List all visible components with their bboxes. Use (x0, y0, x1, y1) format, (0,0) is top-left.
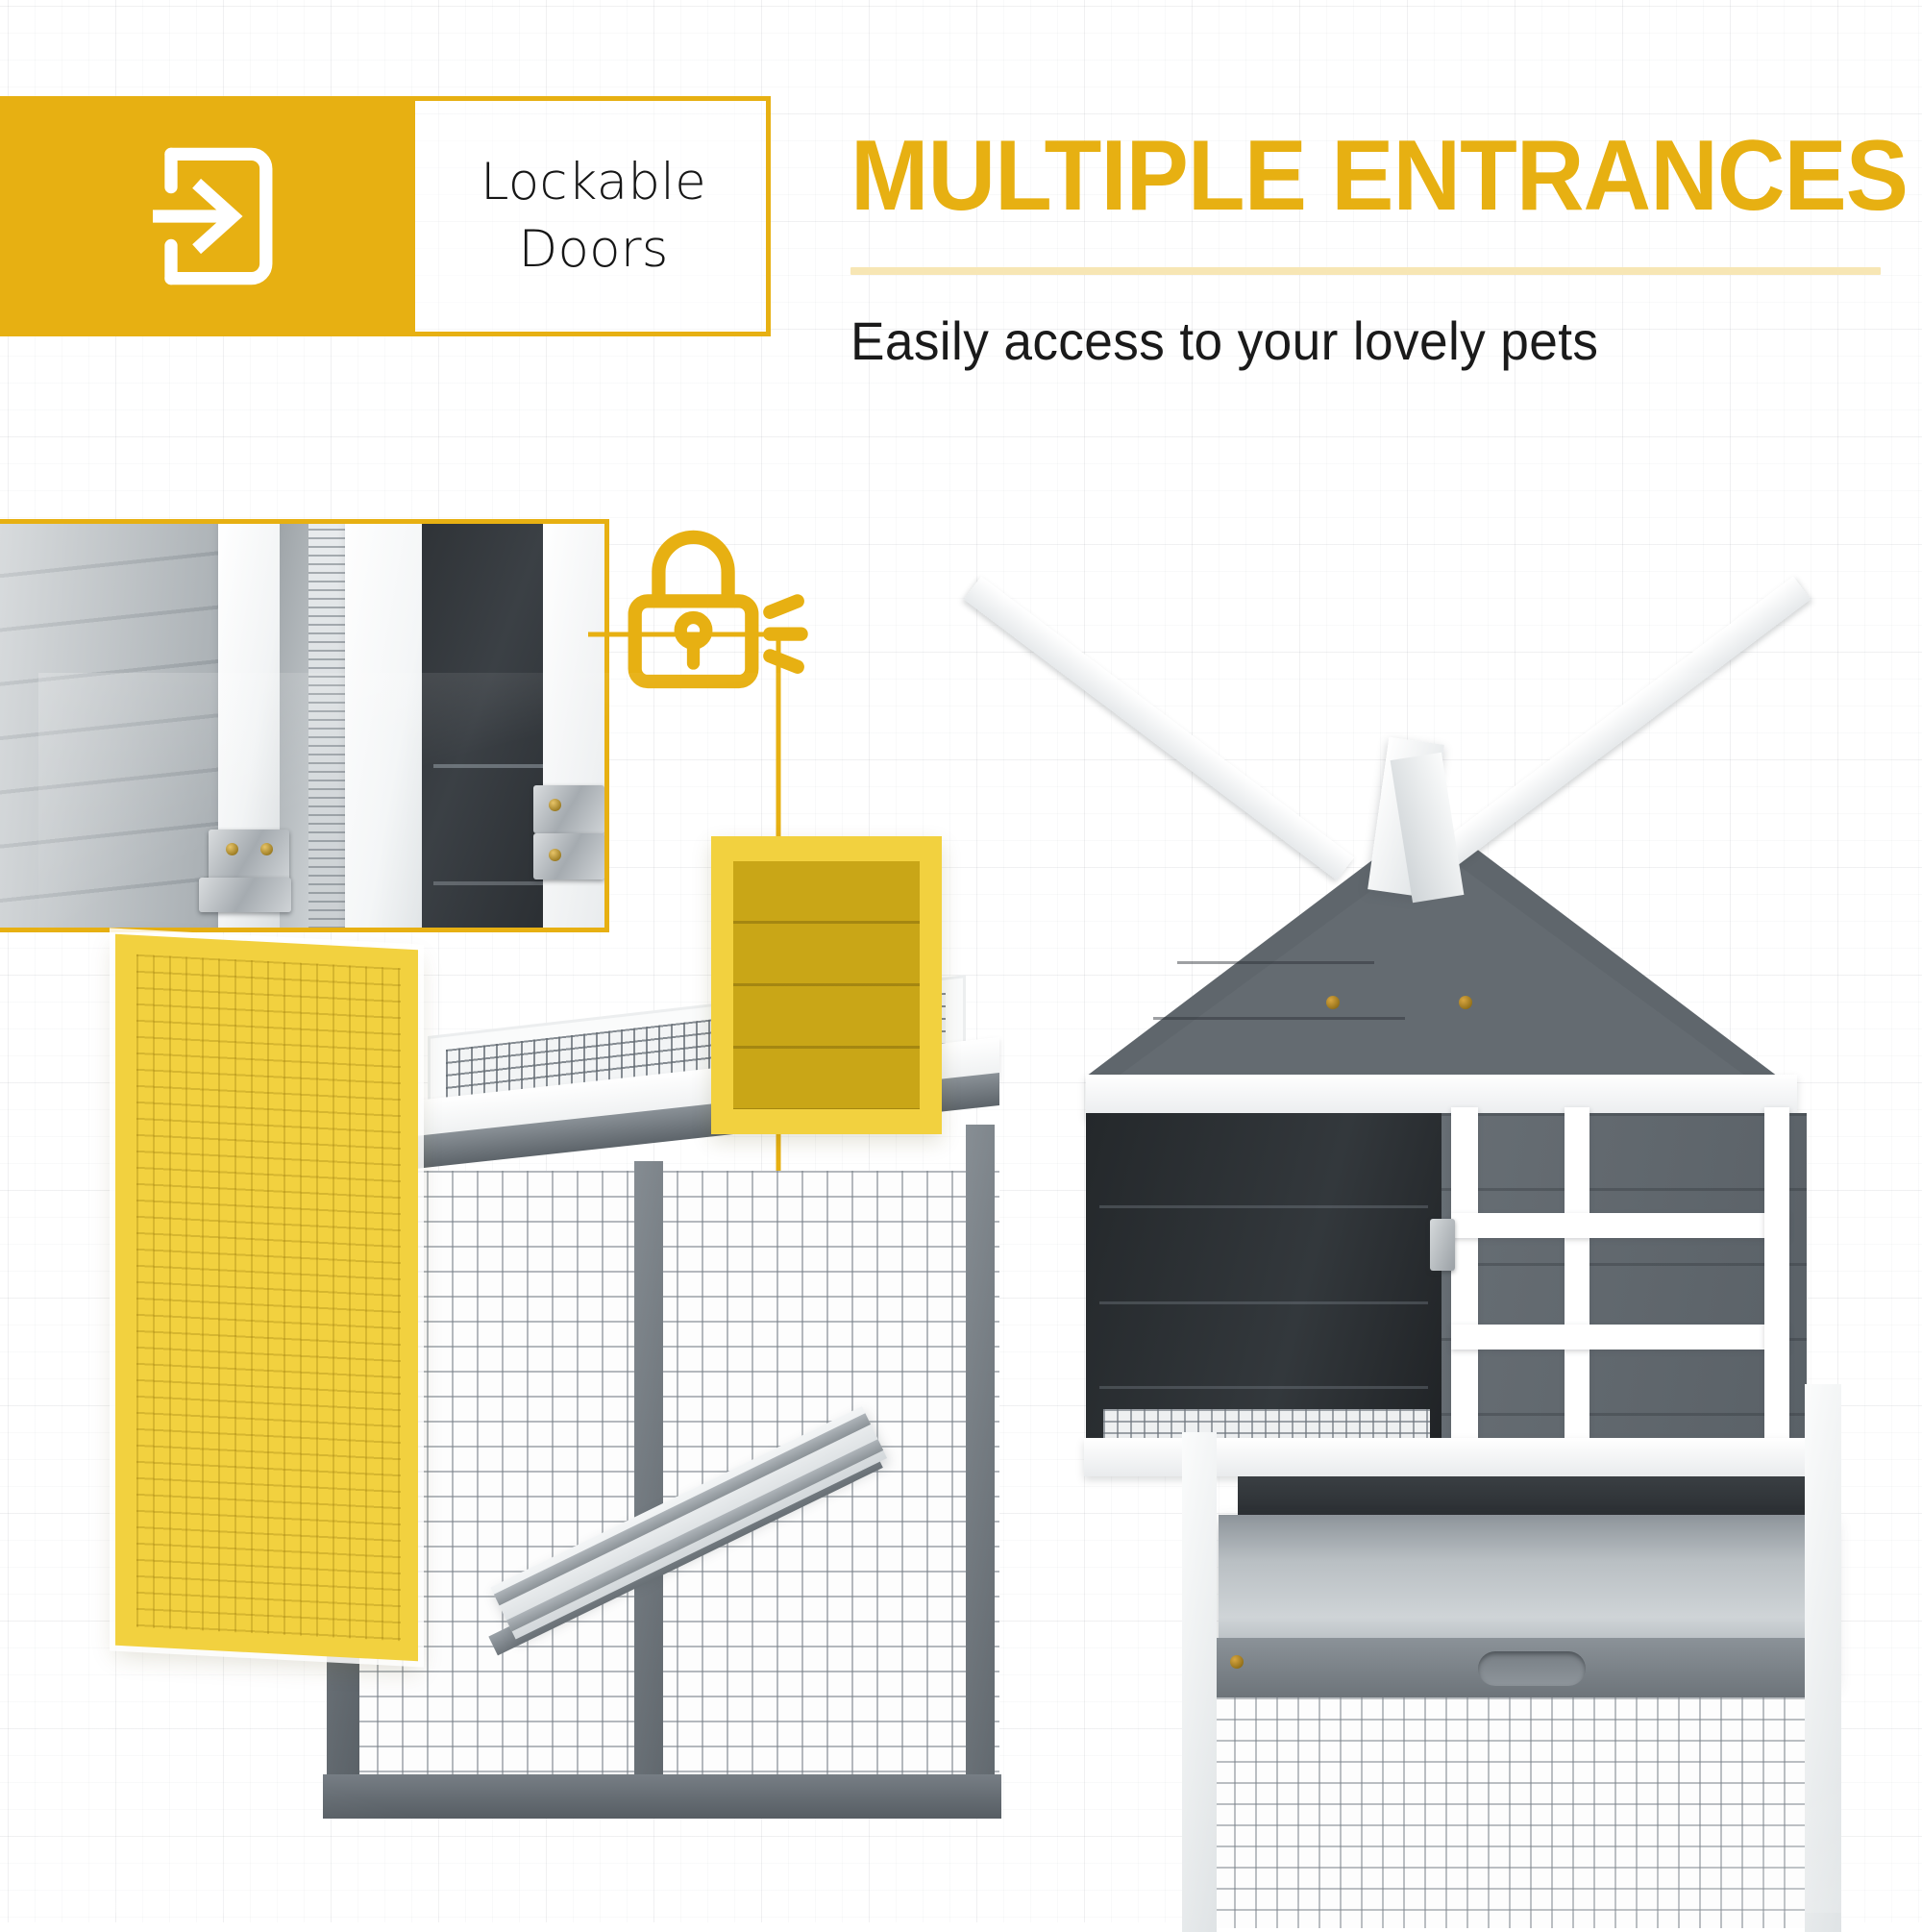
tray-screw (1230, 1655, 1244, 1669)
roof-screw (1326, 996, 1340, 1009)
window-mullion-vertical (1764, 1107, 1789, 1444)
headline-block: MULTIPLE ENTRANCES Easily access to your… (850, 125, 1884, 372)
badge-label: Lockable Doors (480, 149, 706, 285)
tray-handle[interactable] (1478, 1651, 1586, 1686)
gable-plank (1177, 961, 1374, 964)
house-leg-left (1182, 1432, 1217, 1932)
product-photo (38, 673, 1893, 1913)
window-mullion-vertical (1451, 1107, 1478, 1444)
badge-icon-panel (0, 96, 415, 336)
window-frame (1451, 1107, 1789, 1444)
window-mullion-horizontal (1451, 1325, 1789, 1350)
window-mullion-horizontal (1451, 1213, 1789, 1238)
interior-plank (1099, 1301, 1428, 1304)
badge-label-line-2: Doors (480, 216, 706, 284)
run-post-middle (634, 1161, 663, 1815)
lower-run-mesh (1213, 1697, 1839, 1928)
roof-screw (1459, 996, 1472, 1009)
run-post-right (966, 1125, 995, 1817)
tray-slot (1238, 1476, 1805, 1515)
mid-floor-mesh (1103, 1409, 1430, 1440)
highlighted-house-door-panel (733, 861, 920, 1109)
feature-badge: Lockable Doors (0, 96, 771, 336)
badge-label-line-1: Lockable (480, 149, 706, 216)
run-base-rail (323, 1774, 1001, 1819)
house-leg-right (1805, 1384, 1841, 1932)
page-subtitle: Easily access to your lovely pets (850, 310, 1832, 372)
interior-plank (1099, 1205, 1428, 1208)
interior-plank (1099, 1386, 1428, 1389)
badge-label-panel: Lockable Doors (415, 96, 771, 336)
run-wire-mesh-body (327, 1171, 999, 1786)
page-title: MULTIPLE ENTRANCES (850, 125, 1822, 227)
headline-divider (850, 267, 1881, 275)
metal-door-latch[interactable] (1430, 1219, 1455, 1271)
exit-door-arrow-icon (116, 125, 299, 308)
highlighted-run-door-mesh (136, 954, 401, 1641)
gable-plank (1153, 1017, 1405, 1020)
window-mullion-vertical (1565, 1107, 1589, 1444)
house-interior-opening (1086, 1113, 1441, 1440)
